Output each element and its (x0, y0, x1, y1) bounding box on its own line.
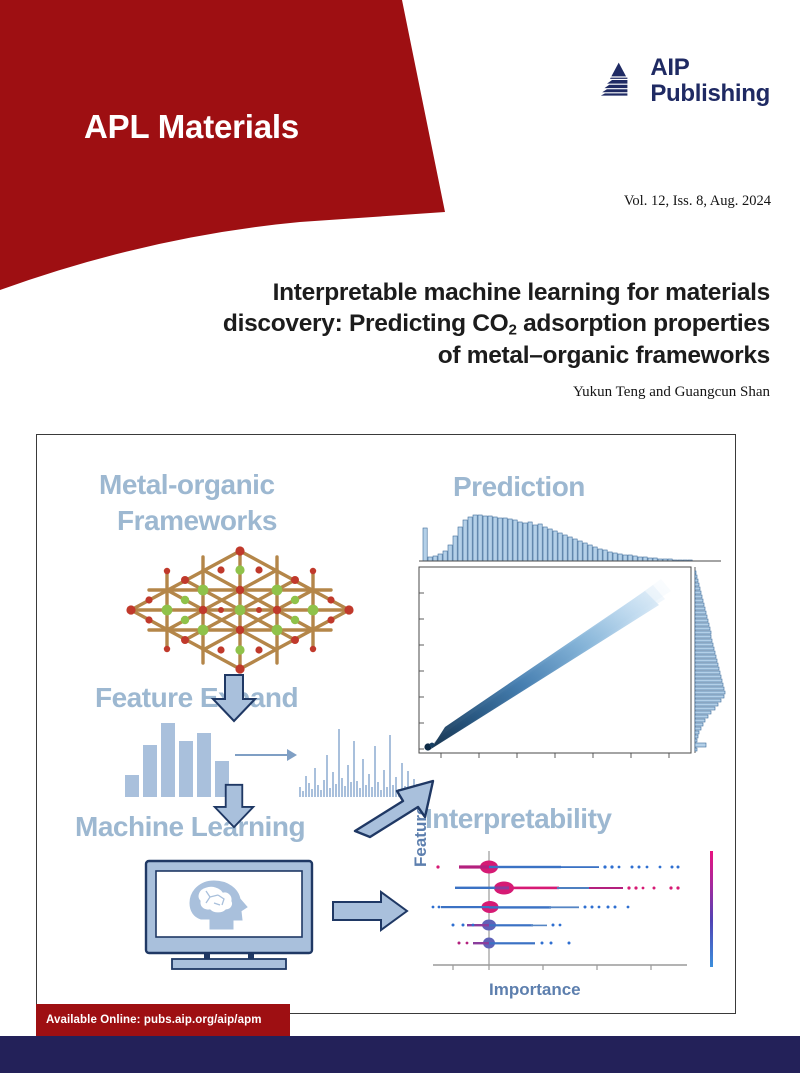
co2-subscript: 2 (508, 321, 516, 338)
down-arrow-icon (211, 673, 257, 723)
shap-x-axis-label: Importance (489, 980, 581, 1000)
shap-beeswarm-plot (429, 847, 729, 975)
prediction-right-marginal-histogram (695, 567, 725, 753)
aip-fan-logo-icon (599, 59, 643, 103)
prediction-density-panel (419, 567, 691, 758)
aip-logo-text-line1: AIP (650, 56, 770, 80)
prediction-top-marginal-histogram (419, 515, 721, 561)
prediction-jointplot (409, 513, 731, 783)
figure-label-prediction: Prediction (453, 471, 585, 503)
shap-colorbar (710, 851, 713, 967)
available-online-banner[interactable]: Available Online: pubs.aip.org/aip/apm (36, 1004, 290, 1036)
aip-publishing-logo: AIP Publishing (599, 56, 770, 106)
red-header-shape (0, 0, 470, 300)
journal-title: APL Materials (84, 108, 299, 146)
shap-row (458, 938, 571, 949)
mof-lattice-icon (125, 545, 355, 675)
figure-label-frameworks: Frameworks (117, 505, 277, 537)
right-arrow-icon (331, 890, 409, 932)
article-title: Interpretable machine learning for mater… (130, 277, 770, 371)
figure-label-interpretability: Interpretability (425, 803, 611, 835)
figure-label-metal-organic: Metal-organic (99, 469, 275, 501)
article-title-line-2: discovery: Predicting CO2 adsorption pro… (130, 308, 770, 340)
cover-figure: Metal-organic Frameworks Prediction Feat… (36, 434, 736, 1014)
shap-row (432, 901, 630, 913)
shap-row (452, 920, 562, 931)
article-authors: Yukun Teng and Guangcun Shan (573, 384, 770, 401)
red-header-banner (0, 0, 470, 300)
monitor-icon (144, 859, 314, 969)
figure-label-machine-learning: Machine Learning (75, 811, 305, 843)
down-arrow-icon (211, 783, 257, 829)
figure-label-feature-expand: Feature Expand (95, 682, 298, 714)
article-title-line-3: of metal–organic frameworks (130, 340, 770, 371)
aip-logo-text-line2: Publishing (650, 82, 770, 106)
article-title-line-1: Interpretable machine learning for mater… (130, 277, 770, 308)
article-title-line-2-part-b: adsorption properties (517, 310, 770, 337)
volume-issue-line: Vol. 12, Iss. 8, Aug. 2024 (624, 193, 771, 210)
available-online-text: Available Online: pubs.aip.org/aip/apm (46, 1014, 262, 1026)
right-arrow-icon (235, 747, 297, 763)
shap-row (436, 861, 679, 874)
bottom-navy-bar (0, 1036, 800, 1073)
article-title-line-2-part-a: discovery: Predicting CO (223, 310, 509, 337)
